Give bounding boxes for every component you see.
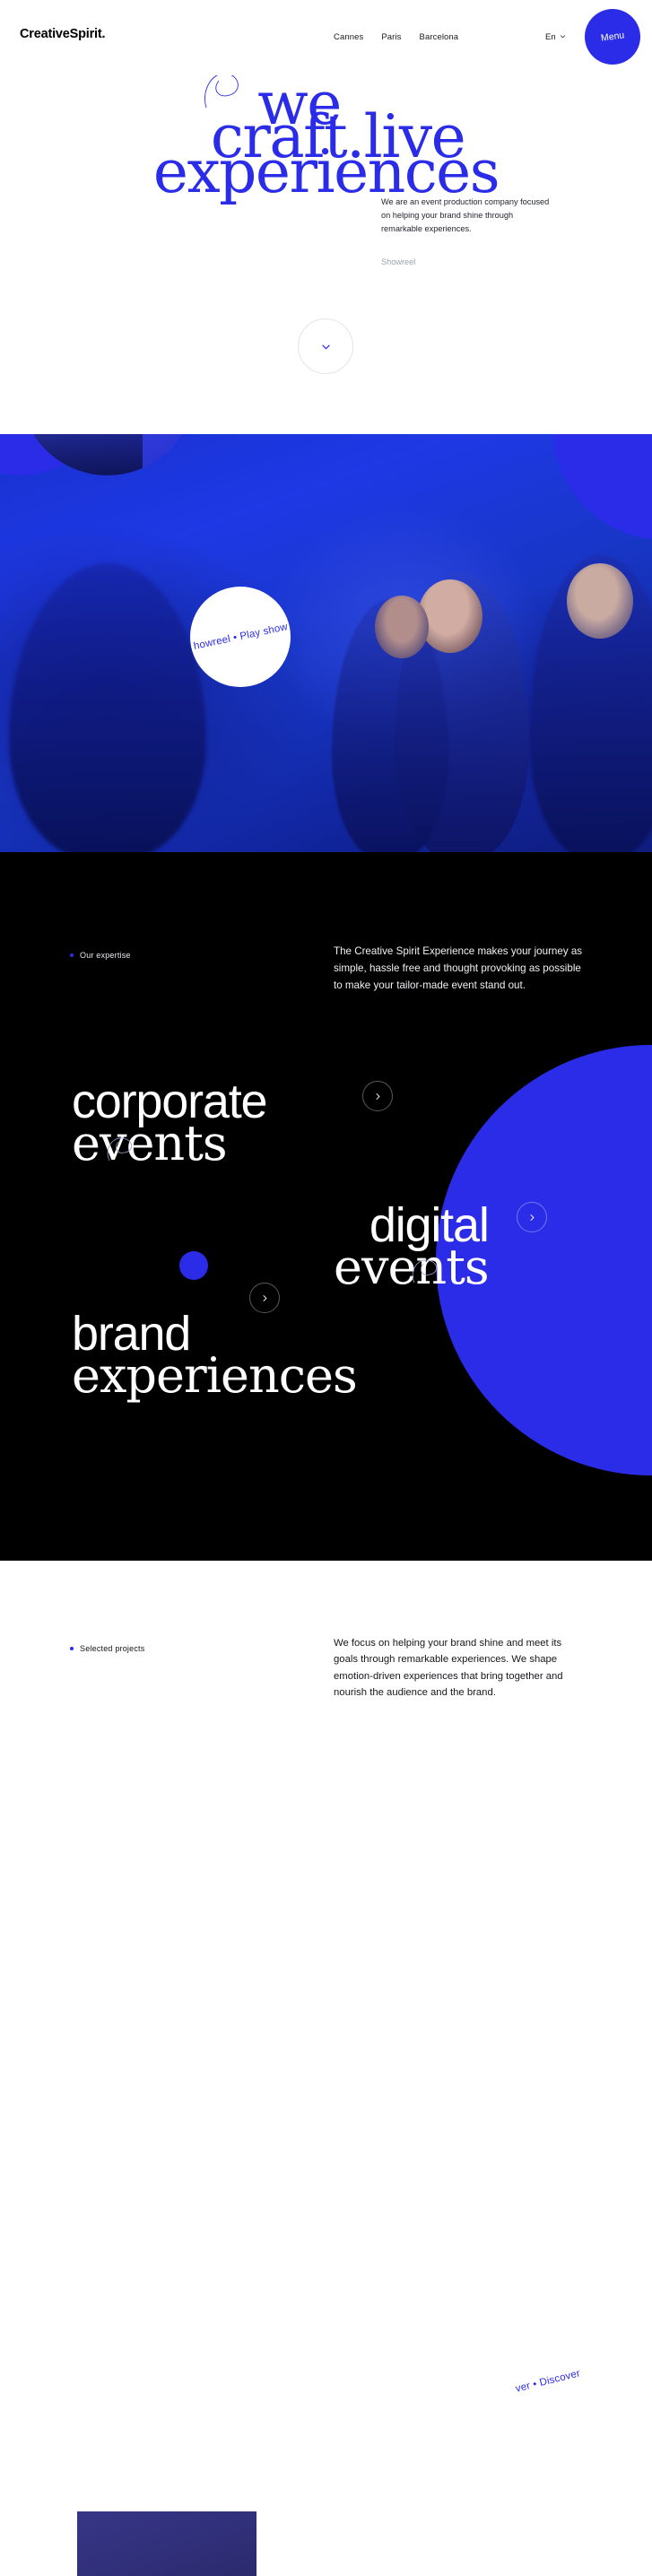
- expertise-item-digital-events[interactable]: digital events: [334, 1197, 489, 1295]
- play-showreel-label: howreel • Play show: [192, 622, 288, 652]
- expertise-item-line2: experiences: [72, 1347, 357, 1404]
- arrow-right-icon: [528, 1214, 536, 1222]
- site-header: CreativeSpirit. Cannes Paris Barcelona E…: [0, 0, 652, 75]
- scroll-down-button[interactable]: [298, 318, 353, 374]
- expertise-eyebrow: Our expertise: [70, 951, 131, 960]
- showreel-blue-overlay: [0, 429, 652, 855]
- arrow-right-icon: [261, 1294, 269, 1302]
- expertise-arrow-corporate-events[interactable]: [362, 1081, 393, 1111]
- page-title: we craft.live experiences: [0, 81, 652, 196]
- arrow-right-icon: [374, 1092, 382, 1101]
- projects-copy: We focus on helping your brand shine and…: [334, 1635, 574, 1701]
- showreel-link[interactable]: Showreel: [381, 257, 415, 266]
- expertise-arrow-digital-events[interactable]: [517, 1202, 547, 1232]
- expertise-eyebrow-label: Our expertise: [80, 951, 131, 960]
- nav-item-cannes[interactable]: Cannes: [334, 32, 363, 42]
- projects-eyebrow-label: Selected projects: [80, 1644, 144, 1653]
- logo[interactable]: CreativeSpirit.: [20, 27, 105, 41]
- hero-intro-block: We are an event production company focus…: [381, 196, 552, 269]
- projects-eyebrow: Selected projects: [70, 1644, 144, 1653]
- play-showreel-button[interactable]: howreel • Play show: [190, 587, 291, 687]
- language-switcher[interactable]: En: [545, 32, 566, 42]
- nav-item-barcelona[interactable]: Barcelona: [420, 32, 459, 42]
- expertise-arrow-brand-experiences[interactable]: [249, 1283, 280, 1313]
- chevron-down-icon: [321, 342, 331, 352]
- hero-section: we craft.live experiences: [0, 75, 652, 434]
- city-nav: Cannes Paris Barcelona: [334, 32, 458, 42]
- menu-button-label: Menu: [600, 30, 625, 44]
- expertise-blue-dot: [179, 1251, 208, 1280]
- expertise-item-brand-experiences[interactable]: brand experiences: [72, 1306, 357, 1404]
- language-label: En: [545, 32, 556, 42]
- bullet-dot-icon: [70, 1647, 74, 1650]
- menu-button[interactable]: Menu: [585, 9, 640, 65]
- expertise-item-line2: events: [334, 1239, 489, 1295]
- discover-button[interactable]: ver • Discover: [499, 2332, 597, 2431]
- hero-line-3: experiences: [0, 149, 652, 196]
- chevron-down-icon: [560, 33, 566, 39]
- expertise-item-corporate-events[interactable]: corporate events: [72, 1074, 266, 1171]
- expertise-copy: The Creative Spirit Experience makes you…: [334, 944, 589, 994]
- hero-intro-copy: We are an event production company focus…: [381, 196, 552, 236]
- showreel-video-section: howreel • Play show: [0, 429, 652, 855]
- discover-label: ver • Discover: [515, 2368, 582, 2395]
- nav-item-paris[interactable]: Paris: [381, 32, 401, 42]
- bullet-dot-icon: [70, 953, 74, 957]
